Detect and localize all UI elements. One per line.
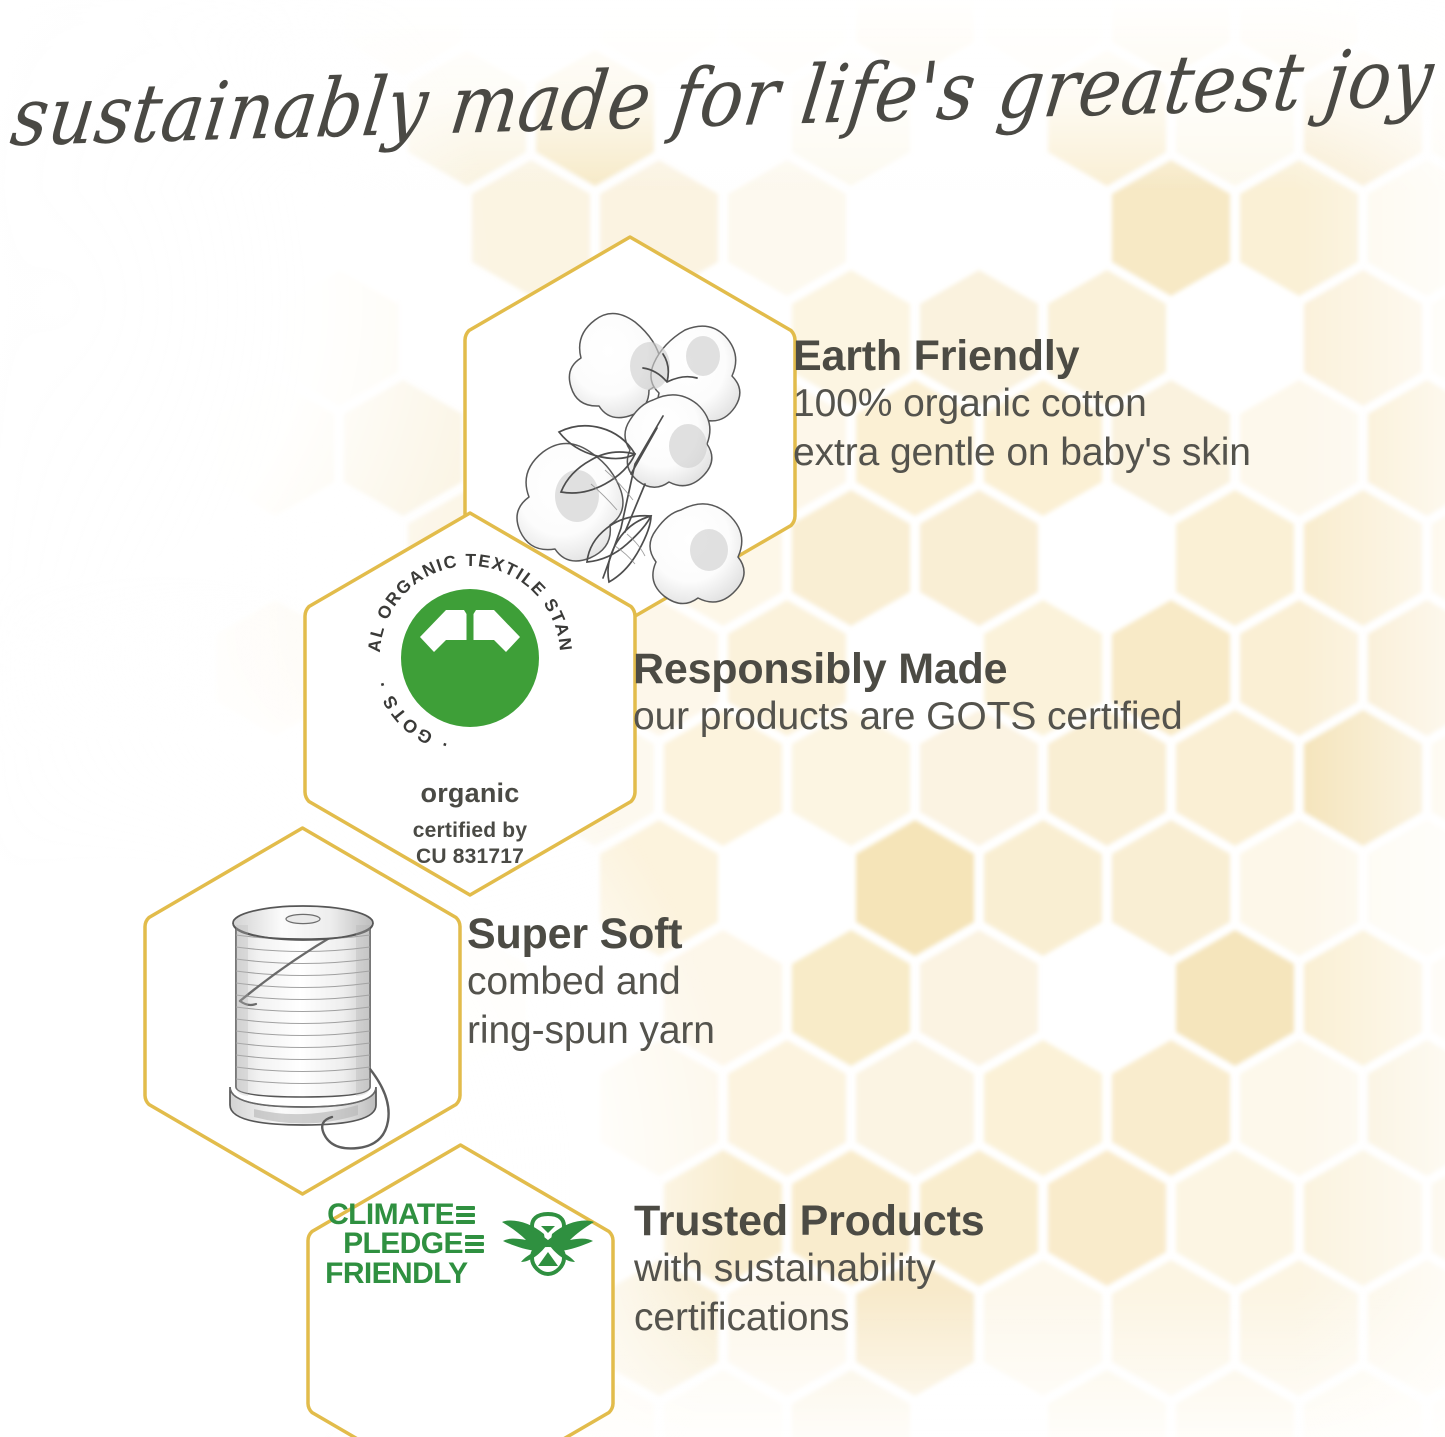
feature-line: 100% organic cotton (793, 380, 1251, 428)
feature-line: ring-spun yarn (467, 1007, 715, 1055)
feature-title: Earth Friendly (793, 332, 1251, 380)
page-title: sustainably made for life's greatest joy… (6, 30, 1439, 164)
feature-title: Trusted Products (634, 1197, 984, 1245)
climate-pledge-friendly-logo: CLIMATE PLEDGE FRIENDLY (325, 1200, 596, 1288)
thread-spool-sketch-icon (178, 873, 428, 1153)
feature-text-earth-friendly: Earth Friendly 100% organic cotton extra… (793, 332, 1251, 477)
tagline-text: sustainably made for life's greatest joy (6, 30, 1439, 164)
gots-seal-icon: GLOBAL ORGANIC TEXTILE STANDARD · GOTS · (358, 544, 582, 768)
cpf-line-2-text: PLEDGE (343, 1229, 463, 1258)
cpf-line-1-text: CLIMATE (327, 1200, 454, 1229)
feature-hexagon-trusted-products: CLIMATE PLEDGE FRIENDLY (303, 1140, 618, 1437)
feature-title: Responsibly Made (633, 645, 1183, 693)
cpf-bars-icon (456, 1206, 475, 1224)
feature-line: with sustainability (634, 1245, 984, 1293)
feature-line: our products are GOTS certified (633, 693, 1183, 741)
winged-hourglass-icon (500, 1204, 596, 1284)
cpf-line-3-text: FRIENDLY (325, 1259, 467, 1288)
gots-organic-certification-logo: GLOBAL ORGANIC TEXTILE STANDARD · GOTS ·… (358, 544, 582, 871)
cpf-bars-icon (465, 1235, 484, 1253)
cpf-line-1: CLIMATE (325, 1200, 475, 1229)
cpf-wordmark: CLIMATE PLEDGE FRIENDLY (325, 1200, 484, 1288)
feature-text-trusted-products: Trusted Products with sustainability cer… (634, 1197, 984, 1342)
feature-line: combed and (467, 958, 715, 1006)
feature-text-responsibly-made: Responsibly Made our products are GOTS c… (633, 645, 1183, 742)
cpf-line-3: FRIENDLY (325, 1259, 467, 1288)
cpf-line-2: PLEDGE (325, 1229, 484, 1258)
feature-title: Super Soft (467, 910, 715, 958)
feature-line: certifications (634, 1294, 984, 1342)
infographic-canvas: sustainably made for life's greatest joy… (0, 0, 1445, 1437)
gots-organic-label: organic (421, 778, 520, 809)
brand-tagline-container: sustainably made for life's greatest joy… (0, 42, 1445, 152)
feature-text-super-soft: Super Soft combed and ring-spun yarn (467, 910, 715, 1055)
feature-line: extra gentle on baby's skin (793, 429, 1251, 477)
